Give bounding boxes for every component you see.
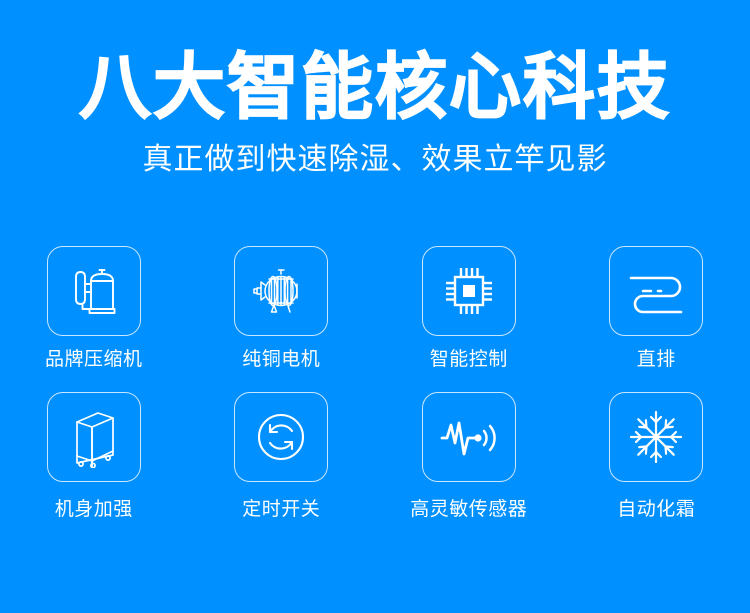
- feature-icon-card[interactable]: [609, 392, 703, 482]
- feature-item-sensor[interactable]: 高灵敏传感器: [375, 392, 563, 522]
- feature-row-1: 品牌压缩机: [0, 246, 750, 372]
- feature-item-smart-control[interactable]: 智能控制: [375, 246, 563, 372]
- feature-label: 直排: [637, 349, 676, 372]
- feature-row-2: 机身加强 定时开关: [0, 392, 750, 522]
- feature-item-timer-switch[interactable]: 定时开关: [188, 392, 376, 522]
- page-subtitle: 真正做到快速除湿、效果立竿见影: [0, 143, 750, 176]
- feature-icon-card[interactable]: [47, 246, 141, 336]
- feature-label: 智能控制: [430, 349, 508, 372]
- feature-label: 品牌压缩机: [45, 349, 143, 372]
- cabinet-body-icon: [65, 406, 123, 468]
- feature-icon-card[interactable]: [234, 392, 328, 482]
- header: 八大智能核心科技 真正做到快速除湿、效果立竿见影: [0, 0, 750, 176]
- promo-banner: 八大智能核心科技 真正做到快速除湿、效果立竿见影: [0, 0, 750, 613]
- compressor-icon: [66, 261, 122, 321]
- electric-motor-icon: [250, 266, 312, 316]
- feature-item-compressor[interactable]: 品牌压缩机: [0, 246, 188, 372]
- snowflake-icon: [627, 408, 685, 466]
- timer-cycle-icon: [254, 410, 308, 464]
- feature-icon-card[interactable]: [422, 392, 516, 482]
- feature-label: 自动化霜: [617, 499, 695, 522]
- feature-label: 高灵敏传感器: [410, 499, 527, 522]
- feature-icon-card[interactable]: [234, 246, 328, 336]
- feature-item-motor[interactable]: 纯铜电机: [188, 246, 376, 372]
- sensor-waveform-icon: [438, 412, 500, 462]
- cpu-chip-icon: [441, 263, 497, 319]
- feature-item-reinforced-body[interactable]: 机身加强: [0, 392, 188, 522]
- feature-item-direct-drain[interactable]: 直排: [563, 246, 750, 372]
- feature-label: 定时开关: [242, 499, 320, 522]
- feature-icon-card[interactable]: [422, 246, 516, 336]
- feature-icon-card[interactable]: [609, 246, 703, 336]
- page-title: 八大智能核心科技: [0, 52, 750, 125]
- feature-label: 机身加强: [55, 499, 133, 522]
- feature-icon-card[interactable]: [47, 392, 141, 482]
- feature-label: 纯铜电机: [242, 349, 320, 372]
- feature-grid: 品牌压缩机: [0, 246, 750, 522]
- feature-item-auto-defrost[interactable]: 自动化霜: [563, 392, 750, 522]
- drain-pipe-icon: [625, 267, 687, 315]
